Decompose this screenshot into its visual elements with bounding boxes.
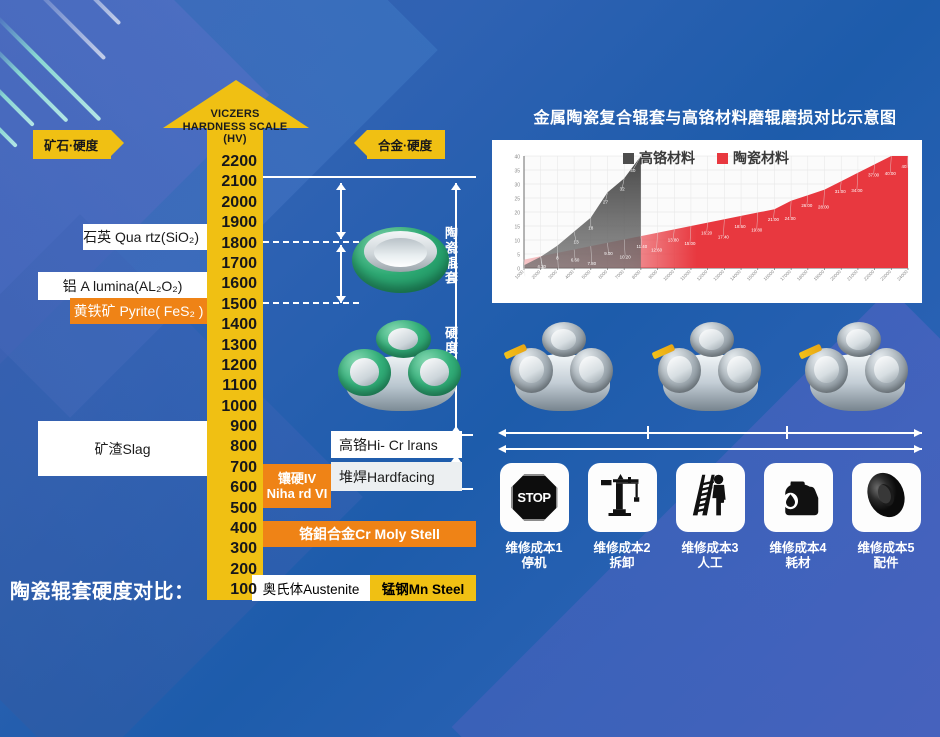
ceramic-ring-hole	[374, 238, 426, 267]
svg-text:19.80: 19.80	[751, 228, 763, 233]
svg-text:15.00: 15.00	[684, 241, 696, 246]
measure-divider-2	[786, 426, 788, 439]
svg-text:24000: 24000	[896, 269, 909, 282]
alloy-chip-nihard: 镶硬IV Niha rd VI	[263, 464, 331, 508]
maintenance-cost-label-line1: 维修成本5	[846, 541, 926, 556]
svg-text:16.20: 16.20	[701, 231, 713, 236]
measure-arrow-left-icon	[498, 445, 506, 453]
svg-text:5000: 5000	[581, 269, 592, 280]
comparison-panel: 金属陶瓷复合辊套与高铬材料磨辊磨损对比示意图 高铬材料陶瓷材料 05101520…	[490, 0, 940, 737]
measure-divider-1	[647, 426, 649, 439]
svg-text:8000: 8000	[631, 269, 642, 280]
svg-text:27: 27	[603, 199, 609, 204]
scale-dashed-line-1800	[263, 241, 359, 243]
alloy-chip-hardfacing: 堆焊Hardfacing	[331, 462, 462, 491]
alloy-chip-cr-moly-steel: 铬鉬合金Cr Moly Stell	[263, 521, 476, 547]
scale-value-1800: 1800	[207, 234, 263, 254]
scale-value-2200: 2200	[207, 152, 263, 172]
roller-stage-1	[510, 322, 615, 414]
maintenance-cost-label-3: 维修成本3人工	[670, 541, 750, 571]
svg-text:24.00: 24.00	[785, 216, 797, 221]
svg-text:13: 13	[574, 240, 580, 245]
svg-text:15: 15	[514, 225, 520, 231]
svg-text:40.00: 40.00	[885, 171, 897, 176]
legend-swatch-icon	[717, 153, 728, 164]
tire-ring-icon	[860, 469, 912, 526]
scale-value-600: 600	[207, 478, 263, 498]
maintenance-cost-label-line2: 停机	[494, 556, 574, 571]
svg-text:14000: 14000	[729, 269, 742, 282]
scale-value-400: 400	[207, 519, 263, 539]
scale-value-1700: 1700	[207, 254, 263, 274]
legend-label: 高铬材料	[639, 148, 695, 168]
svg-text:2000: 2000	[531, 269, 542, 280]
scale-value-300: 300	[207, 539, 263, 559]
maintenance-cost-item-4[interactable]: 维修成本4耗材	[758, 463, 838, 571]
svg-text:21000: 21000	[846, 269, 859, 282]
svg-text:10000: 10000	[662, 269, 675, 282]
svg-text:18.60: 18.60	[735, 224, 747, 229]
svg-text:40: 40	[630, 168, 636, 173]
roller-ring-right	[865, 348, 908, 393]
page-title: 陶瓷辊套硬度对比：	[10, 575, 195, 604]
roller-stage-3	[805, 322, 910, 414]
scale-value-1300: 1300	[207, 336, 263, 356]
svg-text:6.60: 6.60	[571, 258, 580, 263]
stop-sign-icon-card[interactable]: STOP	[500, 463, 569, 532]
chart-legend-item-0: 高铬材料	[623, 148, 695, 168]
svg-text:20000: 20000	[829, 269, 842, 282]
svg-text:17000: 17000	[779, 269, 792, 282]
maintenance-cost-item-2[interactable]: 维修成本2拆卸	[582, 463, 662, 571]
tag-alloy-hardness: 合金·硬度	[367, 130, 445, 159]
svg-text:5: 5	[517, 253, 520, 259]
roller-stage-2	[658, 322, 763, 414]
tag-ore-hardness: 矿石·硬度	[33, 130, 111, 159]
roller-progression-row	[490, 322, 940, 432]
svg-text:18000: 18000	[796, 269, 809, 282]
crane-icon-card[interactable]	[588, 463, 657, 532]
maintenance-cost-label-1: 维修成本1停机	[494, 541, 574, 571]
ceramic-roller-assembly-image	[338, 320, 463, 415]
svg-text:21.00: 21.00	[768, 217, 780, 222]
roller-ring-left	[338, 349, 391, 397]
alloy-chip-high-chrome: 高铬Hi- Cr lrans	[331, 431, 462, 458]
svg-text:26.00: 26.00	[801, 203, 813, 208]
svg-text:3.00: 3.00	[521, 275, 530, 280]
scale-top-guideline	[263, 176, 476, 178]
ceramic-ring-image	[352, 227, 449, 293]
oil-can-icon	[774, 471, 822, 524]
svg-text:11.40: 11.40	[637, 244, 648, 249]
wear-comparison-chart-card: 高铬材料陶瓷材料 0510152025303540100020003000400…	[492, 140, 922, 303]
maintenance-cost-label-5: 维修成本5配件	[846, 541, 926, 571]
scale-value-1500: 1500	[207, 295, 263, 315]
scale-value-1100: 1100	[207, 376, 263, 396]
hardness-scale-panel: VICZERS HARDNESS SCALE (HV) 220021002000…	[0, 0, 490, 737]
scale-title: VICZERS HARDNESS SCALE (HV)	[150, 108, 320, 146]
scale-value-500: 500	[207, 499, 263, 519]
roller-ring-right	[718, 348, 761, 393]
scale-value-1600: 1600	[207, 274, 263, 294]
ladder-worker-icon	[685, 470, 735, 525]
svg-text:9.00: 9.00	[604, 251, 613, 256]
scale-value-200: 200	[207, 560, 263, 580]
svg-text:12.60: 12.60	[651, 248, 663, 253]
scale-value-700: 700	[207, 458, 263, 478]
svg-text:11000: 11000	[679, 269, 692, 282]
maintenance-cost-item-5[interactable]: 维修成本5配件	[846, 463, 926, 571]
measure-arrow-right-icon	[914, 445, 922, 453]
chart-svg: 0510152025303540100020003000400050006000…	[498, 146, 914, 299]
scale-value-list: 2200210020001900180017001600150014001300…	[207, 152, 263, 601]
scale-value-2100: 2100	[207, 172, 263, 192]
ore-chip-quartz: 石英 Qua rtz(SiO₂)	[83, 224, 207, 250]
svg-text:30: 30	[514, 183, 520, 189]
roller-ring-right	[408, 349, 461, 397]
tire-ring-icon-card[interactable]	[852, 463, 921, 532]
svg-text:13000: 13000	[712, 269, 725, 282]
measure-line-segmented	[504, 432, 922, 434]
svg-text:4.20: 4.20	[537, 264, 546, 269]
scale-title-line1: VICZERS	[150, 108, 320, 121]
maintenance-cost-label-line1: 维修成本1	[494, 541, 574, 556]
maintenance-cost-label-line2: 拆卸	[582, 556, 662, 571]
svg-text:7000: 7000	[614, 269, 625, 280]
maintenance-cost-item-1[interactable]: STOP维修成本1停机	[494, 463, 574, 571]
gap-arrow-lower	[340, 245, 342, 303]
svg-text:25: 25	[514, 197, 520, 203]
legend-swatch-icon	[623, 153, 634, 164]
svg-text:35: 35	[514, 169, 520, 175]
maintenance-cost-label-line2: 人工	[670, 556, 750, 571]
svg-text:5.40: 5.40	[554, 268, 563, 273]
scale-value-1400: 1400	[207, 315, 263, 335]
scale-value-100: 100	[207, 580, 263, 600]
infographic-root: VICZERS HARDNESS SCALE (HV) 220021002000…	[0, 0, 940, 737]
svg-text:6000: 6000	[597, 269, 608, 280]
svg-text:31.00: 31.00	[835, 189, 847, 194]
roller-ring-right	[570, 348, 613, 393]
maintenance-cost-label-line1: 维修成本3	[670, 541, 750, 556]
scale-value-1000: 1000	[207, 397, 263, 417]
maintenance-cost-item-3[interactable]: 维修成本3人工	[670, 463, 750, 571]
chart-inner: 高铬材料陶瓷材料 0510152025303540100020003000400…	[498, 146, 914, 299]
maintenance-cost-label-line1: 维修成本4	[758, 541, 838, 556]
crane-icon	[598, 471, 646, 524]
svg-text:22000: 22000	[863, 269, 876, 282]
svg-text:23000: 23000	[879, 269, 892, 282]
maintenance-cost-label-2: 维修成本2拆卸	[582, 541, 662, 571]
stop-sign-icon: STOP	[511, 474, 558, 521]
scale-value-1900: 1900	[207, 213, 263, 233]
oil-can-icon-card[interactable]	[764, 463, 833, 532]
scale-title-line3: (HV)	[150, 133, 320, 146]
maintenance-cost-label-line1: 维修成本2	[582, 541, 662, 556]
ore-chip-slag: 矿渣Slag	[38, 421, 207, 476]
svg-text:34.00: 34.00	[851, 188, 863, 193]
svg-text:15000: 15000	[746, 269, 759, 282]
scale-value-900: 900	[207, 417, 263, 437]
svg-text:10: 10	[514, 239, 520, 245]
svg-text:17.40: 17.40	[718, 234, 730, 239]
svg-text:28.00: 28.00	[818, 205, 830, 210]
maintenance-cost-label-line2: 配件	[846, 556, 926, 571]
maintenance-cost-label-4: 维修成本4耗材	[758, 541, 838, 571]
svg-text:9000: 9000	[648, 269, 659, 280]
alloy-chip-nihard-line1: 镶硬IV	[278, 471, 316, 486]
chart-legend-item-1: 陶瓷材料	[717, 148, 789, 168]
scale-value-1200: 1200	[207, 356, 263, 376]
scale-value-800: 800	[207, 437, 263, 457]
maintenance-cost-label-line2: 耗材	[758, 556, 838, 571]
svg-text:7.80: 7.80	[588, 261, 597, 266]
ore-chip-alumina: 铝 A lumina(AL₂O₂)	[38, 272, 207, 300]
svg-text:10.20: 10.20	[620, 254, 632, 259]
legend-label: 陶瓷材料	[733, 148, 789, 168]
measure-line-total	[504, 448, 922, 450]
alloy-chip-nihard-line2: Niha rd VI	[267, 486, 328, 501]
measurement-arrows	[490, 422, 940, 456]
svg-text:13.80: 13.80	[668, 237, 680, 242]
alloy-chip-mn-steel: 锰钢Mn Steel	[370, 575, 476, 601]
ladder-worker-icon-card[interactable]	[676, 463, 745, 532]
svg-text:12000: 12000	[696, 269, 709, 282]
alloy-chip-austenite: 奥氏体Austenite	[252, 575, 370, 601]
svg-text:37.00: 37.00	[868, 172, 880, 177]
svg-text:19000: 19000	[813, 269, 826, 282]
svg-text:18: 18	[588, 226, 594, 231]
chart-legend: 高铬材料陶瓷材料	[498, 148, 914, 168]
scale-title-line2: HARDNESS SCALE	[150, 121, 320, 134]
gap-arrow-upper	[340, 183, 342, 239]
svg-text:4000: 4000	[564, 269, 575, 280]
measure-arrow-right-icon	[914, 429, 922, 437]
svg-text:20: 20	[514, 211, 520, 217]
svg-text:32: 32	[620, 186, 626, 191]
chart-section-title: 金属陶瓷复合辊套与高铬材料磨辊磨损对比示意图	[490, 104, 940, 128]
ore-chip-pyrite: 黄铁矿 Pyrite( FeS₂ )	[70, 298, 207, 324]
svg-text:16000: 16000	[763, 269, 776, 282]
scale-value-2000: 2000	[207, 193, 263, 213]
measure-arrow-left-icon	[498, 429, 506, 437]
